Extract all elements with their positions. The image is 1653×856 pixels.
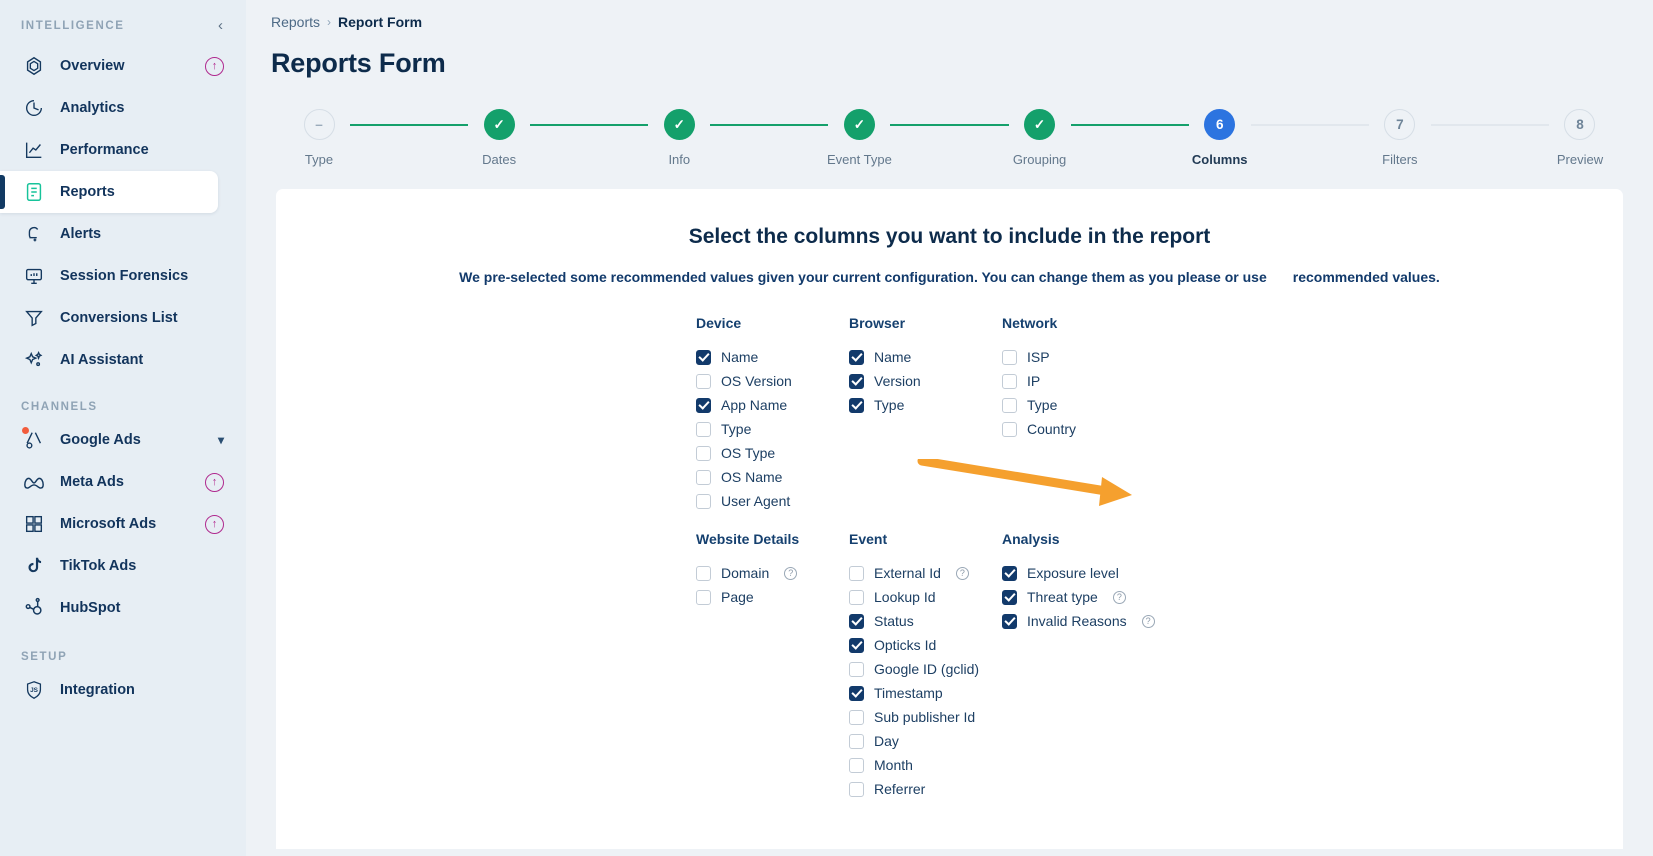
checkbox-label: Type <box>874 397 904 413</box>
group-row-1: DeviceNameOS VersionApp NameTypeOS TypeO… <box>696 315 1623 513</box>
stepper-connector <box>1071 124 1189 126</box>
checkbox-option-isp[interactable]: ISP <box>1002 345 1155 369</box>
column-group-network: NetworkISPIPTypeCountry <box>1002 315 1155 513</box>
stepper-connector <box>350 124 468 126</box>
sidebar-item-microsoft-ads[interactable]: Microsoft Ads ↑ <box>0 503 246 545</box>
sidebar-item-label: Session Forensics <box>60 268 246 284</box>
checkbox-option-user-agent[interactable]: User Agent <box>696 489 849 513</box>
sidebar-item-label: Performance <box>60 142 246 158</box>
stepper-step-preview[interactable]: 8Preview <box>1549 109 1611 167</box>
sidebar-item-analytics[interactable]: Analytics <box>0 87 246 129</box>
session-forensics-icon <box>21 263 47 289</box>
stepper-label: Event Type <box>827 152 892 167</box>
sidebar-item-ai-assistant[interactable]: AI Assistant <box>0 339 246 381</box>
checkbox-option-month[interactable]: Month <box>849 753 1002 777</box>
checkbox-label: Status <box>874 613 914 629</box>
reports-icon <box>21 179 47 205</box>
checkbox-icon[interactable] <box>849 686 864 701</box>
checkbox-icon[interactable] <box>1002 422 1017 437</box>
checkbox-label: Version <box>874 373 921 389</box>
checkbox-label: ISP <box>1027 349 1050 365</box>
new-indicator-dot <box>22 427 29 434</box>
chevron-down-icon[interactable]: ▾ <box>218 433 224 447</box>
stepper-label: Dates <box>482 152 516 167</box>
checkbox-option-invalid-reasons[interactable]: Invalid Reasons? <box>1002 609 1155 633</box>
group-row-2: Website DetailsDomain?PageEventExternal … <box>696 531 1623 801</box>
sidebar-item-reports[interactable]: Reports <box>0 171 218 213</box>
checkbox-option-type[interactable]: Type <box>696 417 849 441</box>
column-group-browser: BrowserNameVersionType <box>849 315 1002 513</box>
checkbox-option-type[interactable]: Type <box>849 393 1002 417</box>
checkbox-label: App Name <box>721 397 787 413</box>
checkbox-option-os-name[interactable]: OS Name <box>696 465 849 489</box>
column-group-event: EventExternal Id?Lookup IdStatusOpticks … <box>849 531 1002 801</box>
hubspot-icon <box>21 595 47 621</box>
card-subtitle: We pre-selected some recommended values … <box>276 269 1623 285</box>
checkbox-icon[interactable] <box>696 422 711 437</box>
subtitle-text: We pre-selected some recommended values … <box>459 269 1267 285</box>
stepper-connector <box>530 124 648 126</box>
stepper-label: Info <box>668 152 690 167</box>
sidebar-header: INTELLIGENCE ‹ <box>0 10 246 45</box>
column-group-device: DeviceNameOS VersionApp NameTypeOS TypeO… <box>696 315 849 513</box>
help-question-icon[interactable]: ? <box>956 567 969 580</box>
checkbox-icon[interactable] <box>696 374 711 389</box>
stepper-label: Filters <box>1382 152 1417 167</box>
sidebar: INTELLIGENCE ‹ Overview ↑ Analytics <box>0 0 246 856</box>
sidebar-item-conversions-list[interactable]: Conversions List <box>0 297 246 339</box>
sidebar-item-session-forensics[interactable]: Session Forensics <box>0 255 246 297</box>
column-group-title: Browser <box>849 315 1002 331</box>
checkbox-icon[interactable] <box>1002 398 1017 413</box>
checkbox-option-status[interactable]: Status <box>849 609 1002 633</box>
checkbox-option-timestamp[interactable]: Timestamp <box>849 681 1002 705</box>
sidebar-item-label: Integration <box>60 682 246 698</box>
checkbox-icon[interactable] <box>849 374 864 389</box>
stepper-label: Columns <box>1192 152 1248 167</box>
breadcrumb-current: Report Form <box>338 14 422 30</box>
checkbox-icon[interactable] <box>849 590 864 605</box>
column-group-title: Analysis <box>1002 531 1155 547</box>
sidebar-item-label: Microsoft Ads <box>60 516 205 532</box>
sidebar-item-label: Reports <box>60 184 218 200</box>
column-group-title: Network <box>1002 315 1155 331</box>
checkbox-icon[interactable] <box>1002 350 1017 365</box>
checkbox-icon[interactable] <box>1002 614 1017 629</box>
main-content: Reports › Report Form Reports Form –Type… <box>246 0 1653 856</box>
stepper-step-info[interactable]: ✓Info <box>648 109 710 167</box>
stepper-bubble: – <box>304 109 335 140</box>
column-group-website-details: Website DetailsDomain?Page <box>696 531 849 801</box>
checkbox-option-google-id-gclid[interactable]: Google ID (gclid) <box>849 657 1002 681</box>
checkbox-option-sub-publisher-id[interactable]: Sub publisher Id <box>849 705 1002 729</box>
checkbox-label: Month <box>874 757 913 773</box>
chevron-left-icon[interactable]: ‹ <box>213 16 228 35</box>
overview-icon <box>21 53 47 79</box>
sidebar-item-google-ads[interactable]: Google Ads ▾ <box>0 419 246 461</box>
checkbox-icon[interactable] <box>696 566 711 581</box>
checkbox-icon[interactable] <box>696 446 711 461</box>
breadcrumb-parent[interactable]: Reports <box>271 14 320 30</box>
checkbox-option-page[interactable]: Page <box>696 585 849 609</box>
checkbox-icon[interactable] <box>696 398 711 413</box>
checkbox-label: OS Type <box>721 445 775 461</box>
stepper-bubble: ✓ <box>844 109 875 140</box>
stepper-connector <box>1431 124 1549 126</box>
checkbox-option-os-version[interactable]: OS Version <box>696 369 849 393</box>
stepper-label: Preview <box>1557 152 1603 167</box>
checkbox-label: Type <box>721 421 751 437</box>
help-question-icon[interactable]: ? <box>1113 591 1126 604</box>
microsoft-ads-icon <box>21 511 47 537</box>
sidebar-item-alerts[interactable]: Alerts <box>0 213 246 255</box>
checkbox-icon[interactable] <box>696 350 711 365</box>
analytics-icon <box>21 95 47 121</box>
sidebar-item-label: Overview <box>60 58 205 74</box>
help-question-icon[interactable]: ? <box>784 567 797 580</box>
stepper-label: Grouping <box>1013 152 1066 167</box>
checkbox-label: Domain <box>721 565 769 581</box>
page-title: Reports Form <box>246 30 1653 79</box>
sidebar-item-label: TikTok Ads <box>60 558 246 574</box>
checkbox-label: Page <box>721 589 754 605</box>
checkbox-label: Opticks Id <box>874 637 936 653</box>
sidebar-item-label: Google Ads <box>60 432 218 448</box>
checkbox-icon[interactable] <box>849 758 864 773</box>
sidebar-section-channels: CHANNELS <box>0 393 246 419</box>
checkbox-label: Lookup Id <box>874 589 936 605</box>
stepper-bubble: 8 <box>1564 109 1595 140</box>
ai-sparkle-icon <box>21 347 47 373</box>
column-groups: DeviceNameOS VersionApp NameTypeOS TypeO… <box>276 315 1623 801</box>
checkbox-icon[interactable] <box>1002 566 1017 581</box>
conversions-funnel-icon <box>21 305 47 331</box>
checkbox-option-app-name[interactable]: App Name <box>696 393 849 417</box>
checkbox-icon[interactable] <box>1002 374 1017 389</box>
sidebar-item-overview[interactable]: Overview ↑ <box>0 45 246 87</box>
checkbox-label: OS Version <box>721 373 792 389</box>
stepper-step-event-type[interactable]: ✓Event Type <box>828 109 890 167</box>
checkbox-icon[interactable] <box>1002 590 1017 605</box>
checkbox-option-ip[interactable]: IP <box>1002 369 1155 393</box>
checkbox-label: OS Name <box>721 469 782 485</box>
sidebar-item-meta-ads[interactable]: Meta Ads ↑ <box>0 461 246 503</box>
checkbox-option-domain[interactable]: Domain? <box>696 561 849 585</box>
help-question-icon[interactable]: ? <box>1142 615 1155 628</box>
sidebar-item-performance[interactable]: Performance <box>0 129 246 171</box>
sidebar-item-label: Alerts <box>60 226 246 242</box>
meta-ads-icon <box>21 469 47 495</box>
checkbox-icon[interactable] <box>849 350 864 365</box>
stepper-bubble: 7 <box>1384 109 1415 140</box>
card-heading: Select the columns you want to include i… <box>276 225 1623 249</box>
stepper-connector <box>710 124 828 126</box>
checkbox-icon[interactable] <box>696 590 711 605</box>
checkbox-label: Country <box>1027 421 1076 437</box>
svg-text:JS: JS <box>30 687 39 694</box>
checkbox-label: Invalid Reasons <box>1027 613 1127 629</box>
checkbox-label: Sub publisher Id <box>874 709 975 725</box>
tiktok-ads-icon <box>21 553 47 579</box>
checkbox-icon[interactable] <box>849 710 864 725</box>
checkbox-icon[interactable] <box>849 662 864 677</box>
checkbox-label: Exposure level <box>1027 565 1119 581</box>
checkbox-option-referrer[interactable]: Referrer <box>849 777 1002 801</box>
column-group-title: Website Details <box>696 531 849 547</box>
stepper-bubble: 6 <box>1204 109 1235 140</box>
checkbox-option-name[interactable]: Name <box>696 345 849 369</box>
checkbox-option-threat-type[interactable]: Threat type? <box>1002 585 1155 609</box>
checkbox-icon[interactable] <box>849 782 864 797</box>
checkbox-option-opticks-id[interactable]: Opticks Id <box>849 633 1002 657</box>
checkbox-label: Name <box>874 349 911 365</box>
sidebar-item-label: Meta Ads <box>60 474 205 490</box>
stepper-step-dates[interactable]: ✓Dates <box>468 109 530 167</box>
checkbox-icon[interactable] <box>849 734 864 749</box>
sidebar-item-label: AI Assistant <box>60 352 246 368</box>
column-group-title: Device <box>696 315 849 331</box>
checkbox-icon[interactable] <box>696 470 711 485</box>
sidebar-item-label: Conversions List <box>60 310 246 326</box>
stepper-step-filters[interactable]: 7Filters <box>1369 109 1431 167</box>
checkbox-option-os-type[interactable]: OS Type <box>696 441 849 465</box>
sidebar-item-label: HubSpot <box>60 600 246 616</box>
sidebar-item-integration[interactable]: JS Integration <box>0 669 246 711</box>
sidebar-section-intelligence: INTELLIGENCE <box>21 20 125 32</box>
sidebar-item-tiktok-ads[interactable]: TikTok Ads <box>0 545 246 587</box>
checkbox-label: External Id <box>874 565 941 581</box>
stepper-label: Type <box>305 152 333 167</box>
upgrade-arrow-icon[interactable]: ↑ <box>205 515 224 534</box>
checkbox-icon[interactable] <box>849 566 864 581</box>
checkbox-label: Day <box>874 733 899 749</box>
checkbox-icon[interactable] <box>849 398 864 413</box>
stepper-step-type[interactable]: –Type <box>288 109 350 167</box>
column-group-analysis: AnalysisExposure levelThreat type?Invali… <box>1002 531 1155 801</box>
stepper-connector <box>1251 124 1369 126</box>
stepper-connector <box>890 124 1008 126</box>
checkbox-icon[interactable] <box>849 638 864 653</box>
stepper-step-grouping[interactable]: ✓Grouping <box>1009 109 1071 167</box>
stepper-step-columns[interactable]: 6Columns <box>1189 109 1251 167</box>
stepper-bubble: ✓ <box>1024 109 1055 140</box>
sidebar-section-setup: SETUP <box>0 643 246 669</box>
checkbox-label: Timestamp <box>874 685 943 701</box>
columns-selection-card: Select the columns you want to include i… <box>276 189 1623 849</box>
stepper-bubble: ✓ <box>664 109 695 140</box>
checkbox-option-external-id[interactable]: External Id? <box>849 561 1002 585</box>
performance-icon <box>21 137 47 163</box>
checkbox-label: Referrer <box>874 781 925 797</box>
checkbox-label: IP <box>1027 373 1040 389</box>
sidebar-item-label: Analytics <box>60 100 246 116</box>
column-group-title: Event <box>849 531 1002 547</box>
checkbox-option-name[interactable]: Name <box>849 345 1002 369</box>
checkbox-icon[interactable] <box>849 614 864 629</box>
recommended-values-link[interactable]: recommended values. <box>1293 269 1440 285</box>
checkbox-label: Threat type <box>1027 589 1098 605</box>
breadcrumb-separator: › <box>327 15 331 29</box>
breadcrumb: Reports › Report Form <box>246 0 1653 30</box>
checkbox-option-exposure-level[interactable]: Exposure level <box>1002 561 1155 585</box>
checkbox-icon[interactable] <box>696 494 711 509</box>
wizard-stepper: –Type✓Dates✓Info✓Event Type✓Grouping6Col… <box>276 109 1623 167</box>
upgrade-arrow-icon[interactable]: ↑ <box>205 57 224 76</box>
checkbox-label: User Agent <box>721 493 790 509</box>
checkbox-option-day[interactable]: Day <box>849 729 1002 753</box>
checkbox-option-version[interactable]: Version <box>849 369 1002 393</box>
checkbox-option-lookup-id[interactable]: Lookup Id <box>849 585 1002 609</box>
stepper-bubble: ✓ <box>484 109 515 140</box>
upgrade-arrow-icon[interactable]: ↑ <box>205 473 224 492</box>
checkbox-option-type[interactable]: Type <box>1002 393 1155 417</box>
checkbox-option-country[interactable]: Country <box>1002 417 1155 441</box>
sidebar-item-hubspot[interactable]: HubSpot <box>0 587 246 629</box>
app-root: INTELLIGENCE ‹ Overview ↑ Analytics <box>0 0 1653 856</box>
checkbox-label: Name <box>721 349 758 365</box>
integration-js-icon: JS <box>21 677 47 703</box>
checkbox-label: Type <box>1027 397 1057 413</box>
alerts-bell-icon <box>21 221 47 247</box>
checkbox-label: Google ID (gclid) <box>874 661 979 677</box>
